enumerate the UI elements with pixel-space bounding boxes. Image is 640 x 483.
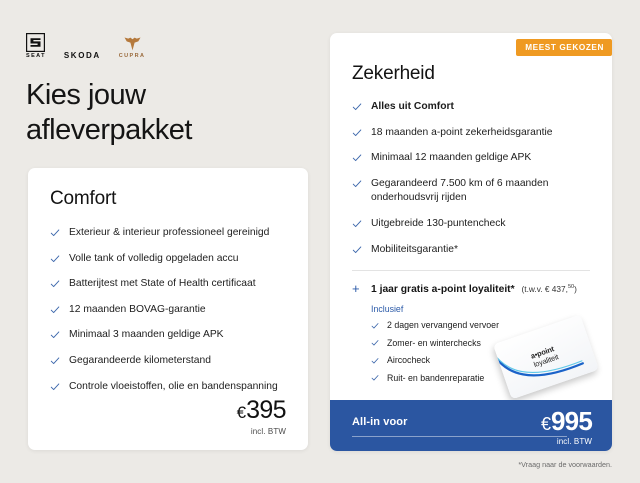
- check-icon: [371, 339, 379, 347]
- list-item: Exterieur & interieur professioneel gere…: [50, 226, 286, 241]
- allin-price-note: incl. BTW: [541, 437, 592, 446]
- bonus-value-prefix: (t.w.v. € 437,: [522, 284, 568, 294]
- check-icon: [352, 128, 362, 138]
- package-card-zekerheid[interactable]: MEEST GEKOZEN Zekerheid Alles uit Comfor…: [330, 33, 612, 451]
- allin-price-amount: €995: [541, 408, 592, 434]
- check-icon: [371, 322, 379, 330]
- list-item-label: Uitgebreide 130-puntencheck: [371, 217, 506, 232]
- list-item-label: Ruit- en bandenreparatie: [387, 373, 484, 384]
- list-item-label: Zomer- en winterchecks: [387, 338, 481, 349]
- list-item: Gegarandeerde kilometerstand: [50, 354, 286, 369]
- list-item-label: Volle tank of volledig opgeladen accu: [69, 252, 238, 267]
- comfort-card-title: Comfort: [50, 188, 286, 210]
- plus-icon: +: [352, 282, 362, 295]
- cupra-logo: CUPRA: [119, 36, 146, 60]
- page-title: Kies jouw afleverpakket: [26, 78, 306, 149]
- seat-logo-label: SEAT: [26, 54, 46, 60]
- list-item-label: Mobiliteitsgarantie*: [371, 243, 458, 258]
- list-item-label: Batterijtest met State of Health certifi…: [69, 277, 256, 292]
- check-icon: [371, 374, 379, 382]
- status-badge: MEEST GEKOZEN: [516, 39, 612, 56]
- comfort-price-block: €395 incl. BTW: [237, 398, 286, 436]
- currency-symbol: €: [541, 414, 551, 434]
- zekerheid-card-title: Zekerheid: [352, 63, 590, 85]
- check-icon: [50, 254, 60, 264]
- left-panel: SEAT SKODA CUPRA Kies jouw afleverpakket…: [0, 0, 330, 483]
- comfort-price-amount: 395: [246, 396, 286, 424]
- skoda-logo: SKODA: [64, 51, 101, 60]
- seat-logo: SEAT: [26, 33, 46, 60]
- list-item-label: Alles uit Comfort: [371, 100, 454, 115]
- package-card-comfort[interactable]: Comfort Exterieur & interieur profession…: [28, 168, 308, 450]
- check-icon: [352, 219, 362, 229]
- section-divider: [352, 270, 590, 271]
- list-item-label: Controle vloeistoffen, olie en bandenspa…: [69, 380, 278, 395]
- check-icon: [50, 279, 60, 289]
- check-icon: [352, 245, 362, 255]
- list-item: 12 maanden BOVAG-garantie: [50, 303, 286, 318]
- brand-logo-group: SEAT SKODA CUPRA: [26, 33, 145, 60]
- list-item-label: 18 maanden a-point zekerheidsgarantie: [371, 126, 552, 141]
- bonus-value: (t.w.v. € 437,50): [522, 284, 577, 294]
- list-item: Controle vloeistoffen, olie en bandenspa…: [50, 380, 286, 395]
- check-icon: [50, 356, 60, 366]
- allin-amount-value: 995: [551, 406, 592, 436]
- allin-label: All-in voor: [352, 416, 408, 428]
- bonus-value-suffix: ): [574, 284, 577, 294]
- list-item: Alles uit Comfort: [352, 100, 590, 115]
- check-icon: [352, 102, 362, 112]
- skoda-logo-label: SKODA: [64, 51, 101, 60]
- list-item-label: 2 dagen vervangend vervoer: [387, 320, 499, 331]
- list-item-label: 12 maanden BOVAG-garantie: [69, 303, 206, 318]
- footnote: *Vraag naar de voorwaarden.: [518, 460, 612, 469]
- check-icon: [371, 357, 379, 365]
- list-item-label: Gegarandeerde kilometerstand: [69, 354, 211, 369]
- list-item: Gegarandeerd 7.500 km of 6 maanden onder…: [352, 177, 590, 206]
- check-icon: [352, 179, 362, 189]
- inclusief-heading: Inclusief: [371, 304, 590, 314]
- list-item-label: Gegarandeerd 7.500 km of 6 maanden onder…: [371, 177, 586, 206]
- cupra-logo-label: CUPRA: [119, 54, 146, 60]
- comfort-feature-list: Exterieur & interieur professioneel gere…: [50, 226, 286, 394]
- currency-symbol: €: [237, 403, 246, 422]
- comfort-price: €395: [237, 398, 286, 423]
- check-icon: [50, 305, 60, 315]
- list-item: 18 maanden a-point zekerheidsgarantie: [352, 126, 590, 141]
- comfort-price-note: incl. BTW: [237, 427, 286, 436]
- allin-price-block: €995 incl. BTW: [541, 408, 592, 446]
- bonus-label: 1 jaar gratis a-point loyaliteit*: [371, 284, 515, 295]
- list-item-label: Exterieur & interieur professioneel gere…: [69, 226, 269, 241]
- allin-price-bar[interactable]: All-in voor €995 incl. BTW: [330, 400, 612, 451]
- list-item: Uitgebreide 130-puntencheck: [352, 217, 590, 232]
- list-item-label: Minimaal 3 maanden geldige APK: [69, 328, 224, 343]
- seat-logo-mark: [26, 33, 45, 52]
- allin-divider: [352, 436, 567, 437]
- list-item: Minimaal 12 maanden geldige APK: [352, 151, 590, 166]
- check-icon: [50, 228, 60, 238]
- check-icon: [352, 153, 362, 163]
- list-item: Mobiliteitsgarantie*: [352, 243, 590, 258]
- check-icon: [50, 330, 60, 340]
- list-item: Minimaal 3 maanden geldige APK: [50, 328, 286, 343]
- cupra-logo-mark: [123, 36, 142, 52]
- zekerheid-feature-list: Alles uit Comfort 18 maanden a-point zek…: [352, 100, 590, 257]
- list-item-label: Minimaal 12 maanden geldige APK: [371, 151, 531, 166]
- list-item-label: Aircocheck: [387, 355, 430, 366]
- check-icon: [50, 382, 60, 392]
- list-item: Volle tank of volledig opgeladen accu: [50, 252, 286, 267]
- list-item: Batterijtest met State of Health certifi…: [50, 277, 286, 292]
- bonus-row: + 1 jaar gratis a-point loyaliteit* (t.w…: [352, 281, 590, 295]
